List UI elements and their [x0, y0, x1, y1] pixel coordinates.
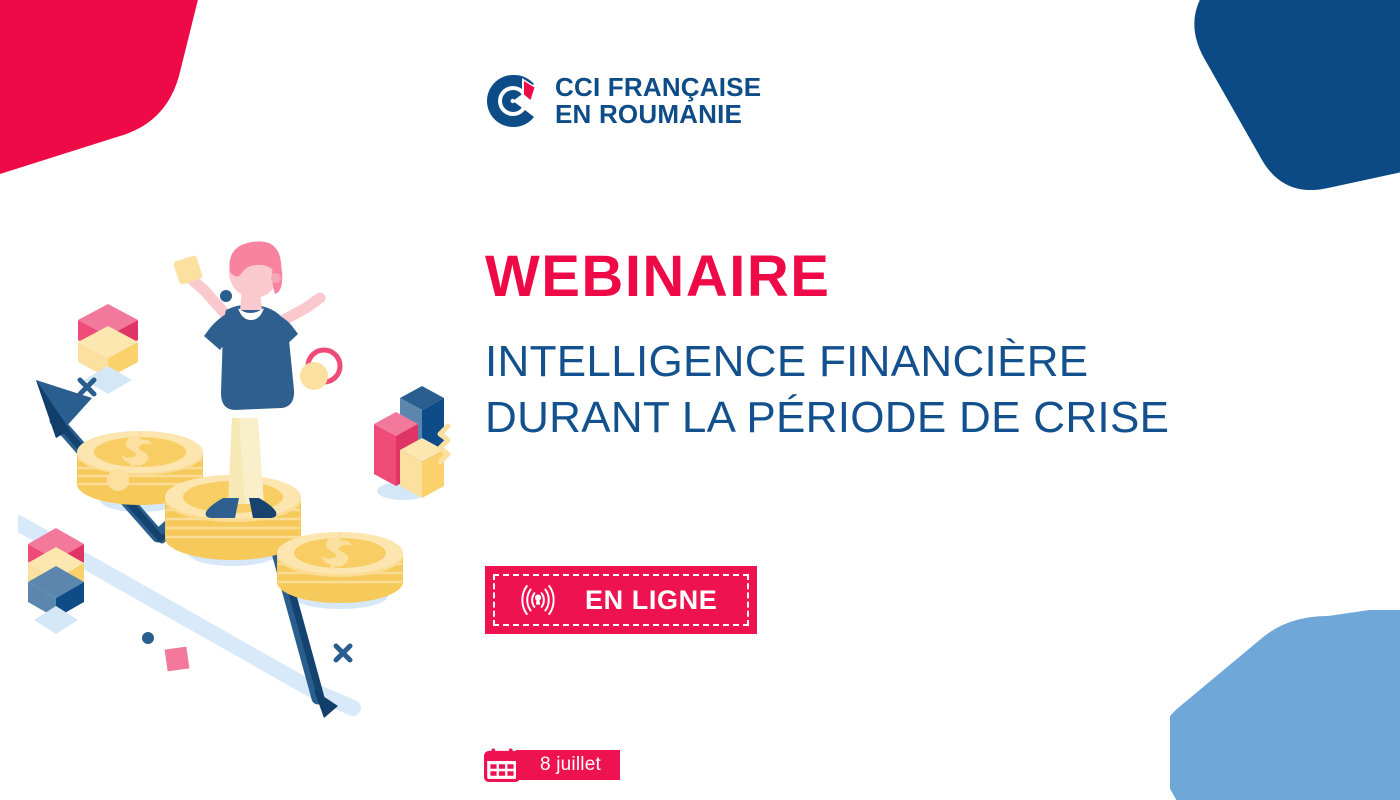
broadcast-signal-icon	[517, 582, 559, 618]
finance-illustration	[18, 238, 458, 728]
top-right-blob-decoration	[1180, 0, 1400, 190]
isometric-bar-chart	[374, 386, 444, 500]
brand-logo-text: CCI FRANÇAISE EN ROUMANIE	[555, 74, 761, 128]
en-ligne-button[interactable]: EN LIGNE	[485, 566, 757, 634]
event-date-bar: 8 juillet	[516, 750, 620, 780]
en-ligne-button-label: EN LIGNE	[585, 585, 717, 616]
poster-canvas: CCI FRANÇAISE EN ROUMANIE WEBINAIRE INTE…	[0, 0, 1400, 800]
event-date-text: 8 juillet	[540, 754, 601, 776]
stacked-cubes-bottom	[28, 528, 84, 634]
coin-stack-small	[277, 532, 403, 603]
en-ligne-button-dashed-frame: EN LIGNE	[493, 574, 749, 626]
cci-circle-logo-icon	[484, 72, 542, 130]
brand-line-2: EN ROUMANIE	[555, 101, 761, 128]
event-date-badge: 8 juillet	[484, 748, 620, 782]
brand-line-1: CCI FRANÇAISE	[555, 74, 761, 101]
calendar-icon	[484, 748, 520, 782]
stacked-cubes-top	[78, 304, 138, 394]
bottom-right-blob-decoration	[1170, 610, 1400, 800]
brand-logo[interactable]: CCI FRANÇAISE EN ROUMANIE	[484, 72, 761, 130]
event-type-kicker: WEBINAIRE	[485, 248, 830, 306]
event-title: INTELLIGENCE FINANCIÈRE DURANT LA PÉRIOD…	[485, 334, 1169, 447]
top-left-blob-decoration	[0, 0, 230, 197]
